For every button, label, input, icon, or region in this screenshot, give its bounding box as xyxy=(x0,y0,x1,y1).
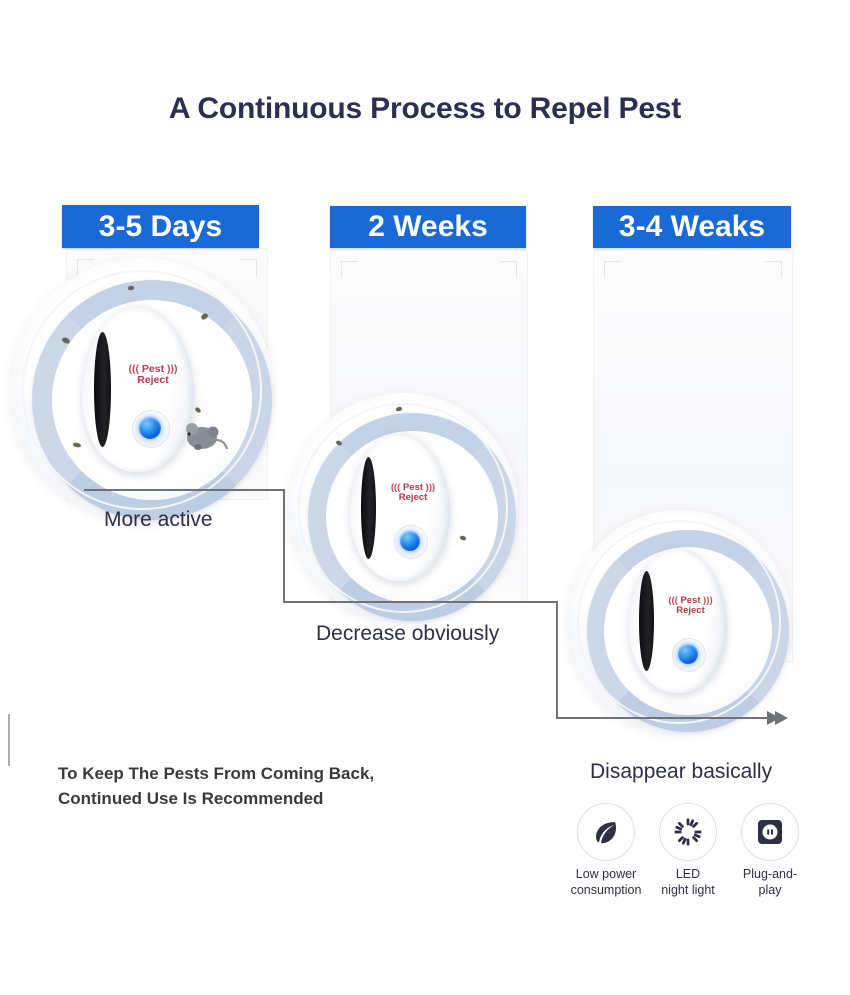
feature-low-power: Low power consumption xyxy=(572,803,640,898)
bottom-note-line-2: Continued Use Is Recommended xyxy=(58,787,374,812)
feature-label: Plug-and-play xyxy=(736,867,804,898)
panel-corner-tl xyxy=(604,261,621,278)
connector-segment-4 xyxy=(556,601,558,718)
feature-label: LED night light xyxy=(661,867,715,898)
stage-caption-3: Disappear basically xyxy=(590,760,772,784)
panel-corner-tr xyxy=(500,261,517,278)
logo-line-2: Reject xyxy=(676,605,705,616)
connector-arrowhead-icon xyxy=(767,711,780,725)
feature-label-line-2: consumption xyxy=(571,883,642,897)
feature-icon-circle xyxy=(577,803,635,861)
panel-corner-tl xyxy=(341,261,358,278)
feature-plug-and-play: Plug-and-play xyxy=(736,803,804,898)
stage-caption-1: More active xyxy=(104,508,213,532)
stage-badge-3[interactable]: 3-4 Weaks xyxy=(593,206,791,248)
bottom-note-line-1: To Keep The Pests From Coming Back, xyxy=(58,762,374,787)
feature-led-night-light: LED night light xyxy=(654,803,722,898)
pest-reject-logo: ((( Pest ))) Reject xyxy=(116,364,190,385)
infographic-canvas: A Continuous Process to Repel Pest 3-5 D… xyxy=(0,0,850,995)
feature-label: Low power consumption xyxy=(571,867,642,898)
led-indicator xyxy=(139,417,161,439)
device-speaker-slot xyxy=(639,571,654,671)
leaf-icon xyxy=(591,817,621,847)
stage-badge-2[interactable]: 2 Weeks xyxy=(330,206,526,248)
outlet-icon xyxy=(755,817,785,847)
repeller-unit-stage-1: ((( Pest ))) Reject xyxy=(10,258,274,522)
left-edge-tick xyxy=(8,714,10,766)
logo-line-2: Reject xyxy=(399,492,428,503)
pest-reject-logo: ((( Pest ))) Reject xyxy=(658,596,723,615)
stage-caption-2: Decrease obviously xyxy=(316,622,499,646)
feature-list: Low power consumption xyxy=(572,803,804,898)
page-title: A Continuous Process to Repel Pest xyxy=(0,92,850,126)
repeller-unit-stage-3: ((( Pest ))) Reject xyxy=(567,510,791,734)
sunburst-icon xyxy=(673,817,703,847)
led-indicator xyxy=(678,644,698,664)
logo-line-2: Reject xyxy=(137,374,169,386)
feature-label-line-2: night light xyxy=(661,883,715,897)
connector-segment-1 xyxy=(84,489,284,491)
pest-mouse xyxy=(180,418,228,459)
panel-corner-tr xyxy=(765,261,782,278)
device-speaker-slot xyxy=(94,332,111,447)
device-speaker-slot xyxy=(361,457,376,559)
connector-segment-3 xyxy=(283,601,557,603)
feature-icon-circle xyxy=(659,803,717,861)
connector-segment-5 xyxy=(556,717,782,719)
bottom-note: To Keep The Pests From Coming Back, Cont… xyxy=(58,762,374,811)
repeller-unit-stage-2: ((( Pest ))) Reject xyxy=(288,393,518,623)
connector-segment-2 xyxy=(283,489,285,602)
feature-label-line-1: LED xyxy=(676,867,700,881)
stage-badge-1[interactable]: 3-5 Days xyxy=(62,205,259,248)
feature-label-line-1: Low power xyxy=(576,867,636,881)
pest-reject-logo: ((( Pest ))) Reject xyxy=(380,483,446,502)
feature-label-line-1: Plug-and-play xyxy=(743,867,797,897)
feature-icon-circle xyxy=(741,803,799,861)
led-indicator xyxy=(400,531,420,551)
mouse-icon xyxy=(180,418,228,454)
